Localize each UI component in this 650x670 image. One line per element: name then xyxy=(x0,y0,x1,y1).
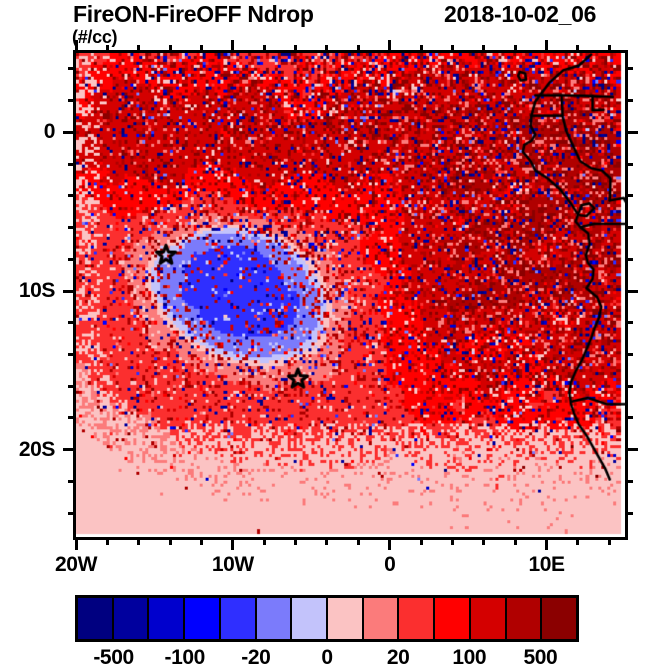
y-tick xyxy=(68,163,76,166)
x-tick xyxy=(106,537,109,545)
y-tick-right xyxy=(625,321,633,324)
x-tick-top xyxy=(200,45,203,53)
x-tick-top xyxy=(325,45,328,53)
y-tick xyxy=(68,353,76,356)
y-tick-right xyxy=(625,226,633,229)
y-tick-right xyxy=(625,290,638,293)
y-tick xyxy=(68,512,76,515)
x-tick-top xyxy=(357,45,360,53)
colorbar xyxy=(75,595,579,642)
x-tick xyxy=(169,537,172,545)
x-tick-top xyxy=(75,40,78,53)
x-tick xyxy=(231,537,234,550)
colorbar-cell xyxy=(435,598,471,639)
x-tick xyxy=(482,537,485,545)
x-tick xyxy=(200,537,203,545)
colorbar-cell xyxy=(364,598,400,639)
y-axis-label: 0 xyxy=(0,120,55,144)
x-tick xyxy=(388,537,391,550)
colorbar-cell xyxy=(257,598,293,639)
y-axis-label: 10S xyxy=(0,279,55,303)
x-tick xyxy=(294,537,297,545)
y-axis-label: 20S xyxy=(0,438,55,462)
x-tick xyxy=(608,537,611,545)
x-tick xyxy=(357,537,360,545)
chart-units-label: (#/cc) xyxy=(72,27,117,48)
y-tick-right xyxy=(625,67,633,70)
map-plot-area xyxy=(73,50,628,540)
y-tick xyxy=(68,99,76,102)
colorbar-cell xyxy=(149,598,185,639)
y-tick-right xyxy=(625,163,633,166)
y-tick-right xyxy=(625,448,638,451)
colorbar-tick-label: -500 xyxy=(93,646,133,670)
x-tick-top xyxy=(231,40,234,53)
x-tick xyxy=(545,537,548,550)
y-tick-right xyxy=(625,512,633,515)
x-axis-label: 10E xyxy=(528,553,564,577)
colorbar-tick-label: -20 xyxy=(241,646,270,670)
colorbar-tick-label: -100 xyxy=(164,646,204,670)
x-tick-top xyxy=(263,45,266,53)
colorbar-cell xyxy=(399,598,435,639)
y-tick xyxy=(63,290,76,293)
x-tick xyxy=(263,537,266,545)
y-tick xyxy=(68,385,76,388)
colorbar-cell xyxy=(185,598,221,639)
chart-timestamp: 2018-10-02_06 xyxy=(444,1,596,28)
x-tick-top xyxy=(514,45,517,53)
y-tick-right xyxy=(625,353,633,356)
colorbar-cell xyxy=(221,598,257,639)
y-tick-right xyxy=(625,258,633,261)
y-tick-right xyxy=(625,385,633,388)
y-tick xyxy=(63,448,76,451)
y-tick xyxy=(68,416,76,419)
colorbar-tick-label: 0 xyxy=(321,646,332,670)
y-tick-right xyxy=(625,416,633,419)
colorbar-cell xyxy=(78,598,114,639)
chart-title: FireON-FireOFF Ndrop xyxy=(73,1,314,28)
x-axis-label: 10W xyxy=(212,553,254,577)
y-tick xyxy=(63,131,76,134)
y-tick xyxy=(68,258,76,261)
x-tick-top xyxy=(137,45,140,53)
x-tick-top xyxy=(608,45,611,53)
x-tick-top xyxy=(294,45,297,53)
colorbar-cell xyxy=(471,598,507,639)
x-tick xyxy=(451,537,454,545)
x-tick xyxy=(137,537,140,545)
x-tick xyxy=(420,537,423,545)
y-tick xyxy=(68,67,76,70)
x-tick xyxy=(576,537,579,545)
colorbar-cell xyxy=(114,598,150,639)
x-tick-top xyxy=(106,45,109,53)
y-tick-right xyxy=(625,194,633,197)
x-tick-top xyxy=(482,45,485,53)
colorbar-tick-label: 100 xyxy=(452,646,486,670)
y-tick xyxy=(68,226,76,229)
x-tick-top xyxy=(388,40,391,53)
colorbar-cell xyxy=(542,598,576,639)
colorbar-tick-label: 20 xyxy=(387,646,410,670)
x-tick xyxy=(325,537,328,545)
x-tick xyxy=(514,537,517,545)
coastline-overlay xyxy=(76,53,625,537)
x-tick-top xyxy=(451,45,454,53)
y-tick xyxy=(68,194,76,197)
x-tick-top xyxy=(576,45,579,53)
colorbar-cell xyxy=(292,598,328,639)
y-tick xyxy=(68,321,76,324)
x-tick-top xyxy=(545,40,548,53)
colorbar-cell xyxy=(328,598,364,639)
y-tick-right xyxy=(625,99,633,102)
x-axis-label: 0 xyxy=(384,553,395,577)
y-tick-right xyxy=(625,131,638,134)
x-tick-top xyxy=(169,45,172,53)
x-tick-top xyxy=(420,45,423,53)
x-axis-label: 20W xyxy=(55,553,97,577)
y-tick xyxy=(68,480,76,483)
y-tick-right xyxy=(625,480,633,483)
figure-panel: FireON-FireOFF Ndrop 2018-10-02_06 (#/cc… xyxy=(0,0,650,667)
x-tick xyxy=(75,537,78,550)
colorbar-tick-label: 500 xyxy=(524,646,558,670)
colorbar-cell xyxy=(507,598,543,639)
